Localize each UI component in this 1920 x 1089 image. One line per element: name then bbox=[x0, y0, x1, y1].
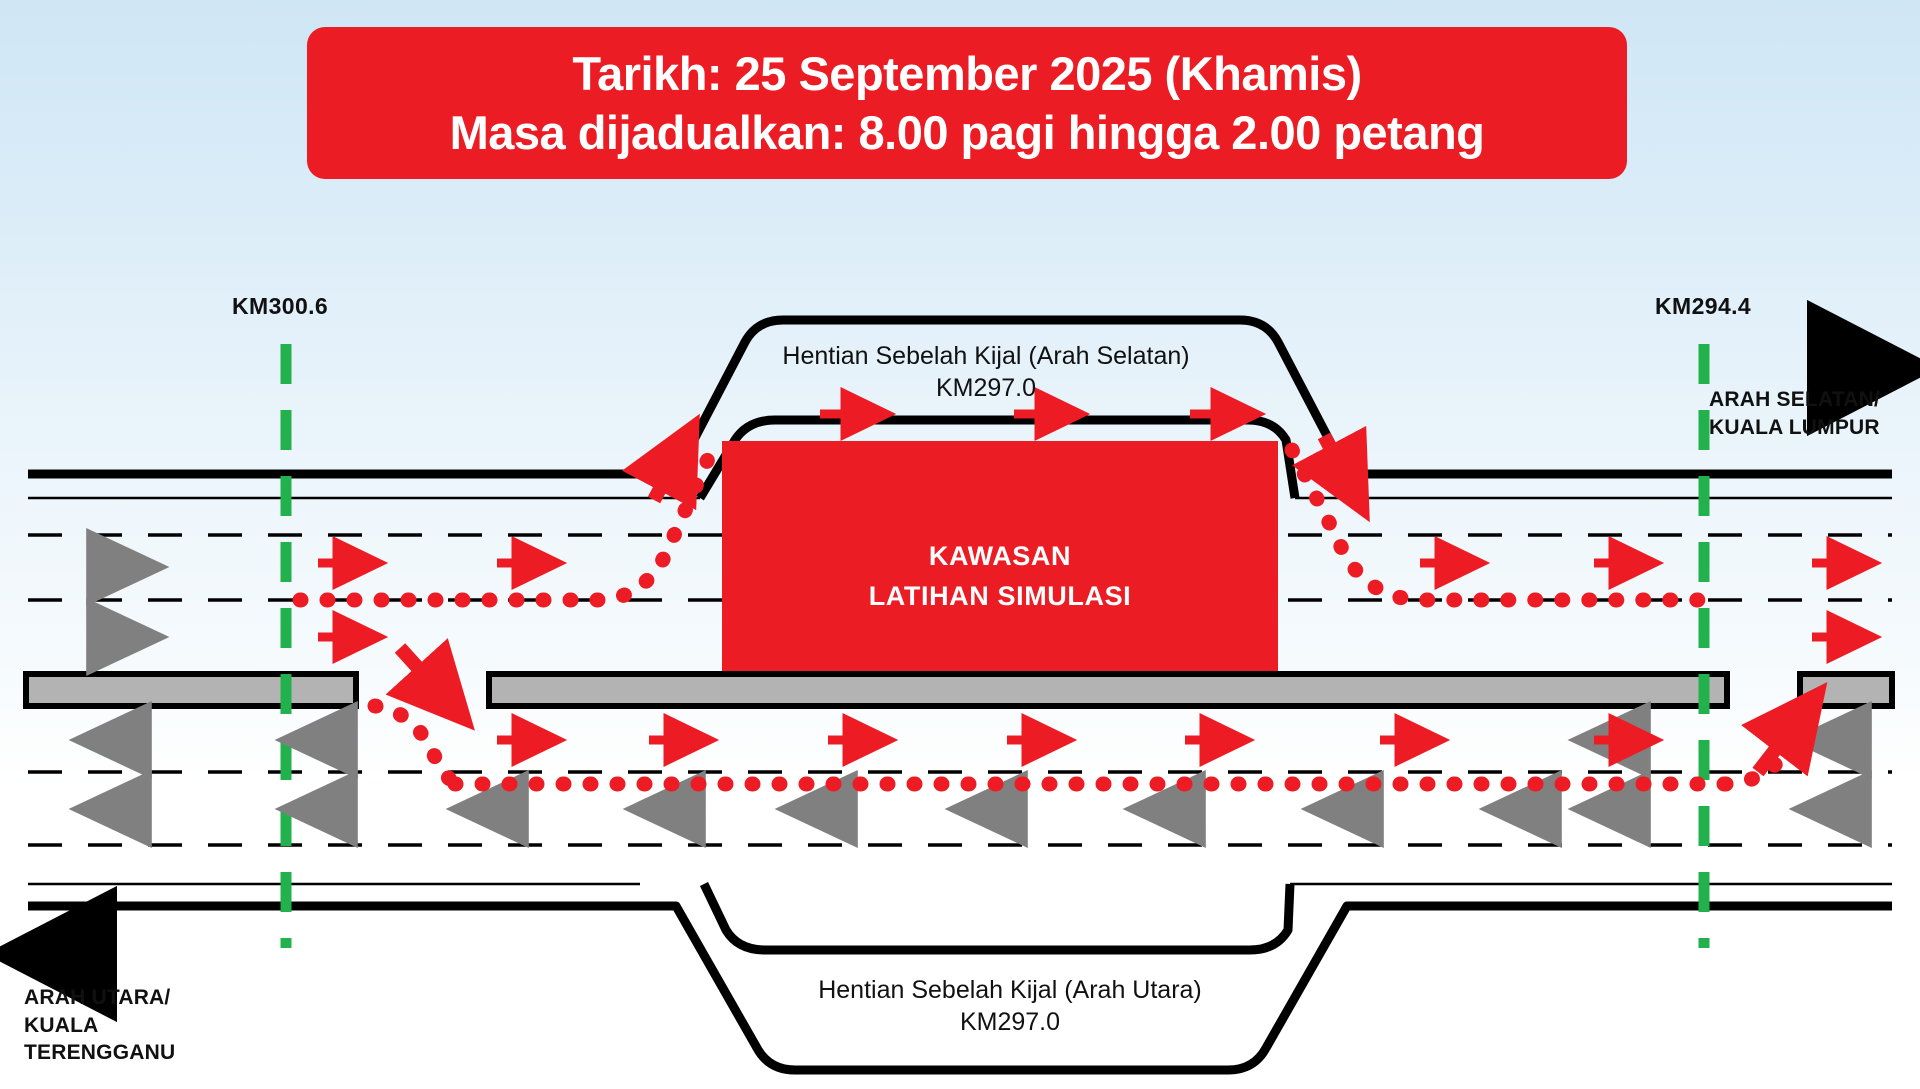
direction-north-line3: TERENGGANU bbox=[24, 1039, 175, 1067]
rest-stop-km-north: KM297.0 bbox=[780, 1006, 1240, 1038]
direction-south-line2: KUALA LUMPUR bbox=[1709, 414, 1880, 442]
direction-north-line1: ARAH UTARA/ bbox=[24, 984, 175, 1012]
north-rest-stop-island-outline bbox=[704, 884, 1290, 950]
direction-label-south: ARAH SELATAN/ KUALA LUMPUR bbox=[1709, 386, 1880, 441]
direction-north-line2: KUALA bbox=[24, 1012, 175, 1040]
northbound-normal-arrows bbox=[92, 740, 1866, 809]
direction-label-north: ARAH UTARA/ KUALA TERENGGANU bbox=[24, 984, 175, 1067]
rest-stop-label-north: Hentian Sebelah Kijal (Arah Utara) KM297… bbox=[780, 974, 1240, 1038]
rest-stop-name-north: Hentian Sebelah Kijal (Arah Utara) bbox=[780, 974, 1240, 1006]
km-marker-label-start: KM300.6 bbox=[232, 293, 328, 320]
rest-stop-name-south: Hentian Sebelah Kijal (Arah Selatan) bbox=[756, 340, 1216, 372]
closure-zone-box bbox=[722, 441, 1278, 681]
northbound-road-edges bbox=[28, 884, 1892, 906]
median-barriers bbox=[26, 674, 1892, 706]
rest-stop-label-south: Hentian Sebelah Kijal (Arah Selatan) KM2… bbox=[756, 340, 1216, 404]
rest-stop-km-south: KM297.0 bbox=[756, 372, 1216, 404]
traffic-diversion-diagram: Tarikh: 25 September 2025 (Khamis) Masa … bbox=[0, 0, 1920, 1089]
road-schematic bbox=[0, 0, 1920, 1089]
km-marker-label-end: KM294.4 bbox=[1655, 293, 1751, 320]
direction-south-line1: ARAH SELATAN/ bbox=[1709, 386, 1880, 414]
southbound-normal-arrows bbox=[92, 567, 146, 637]
